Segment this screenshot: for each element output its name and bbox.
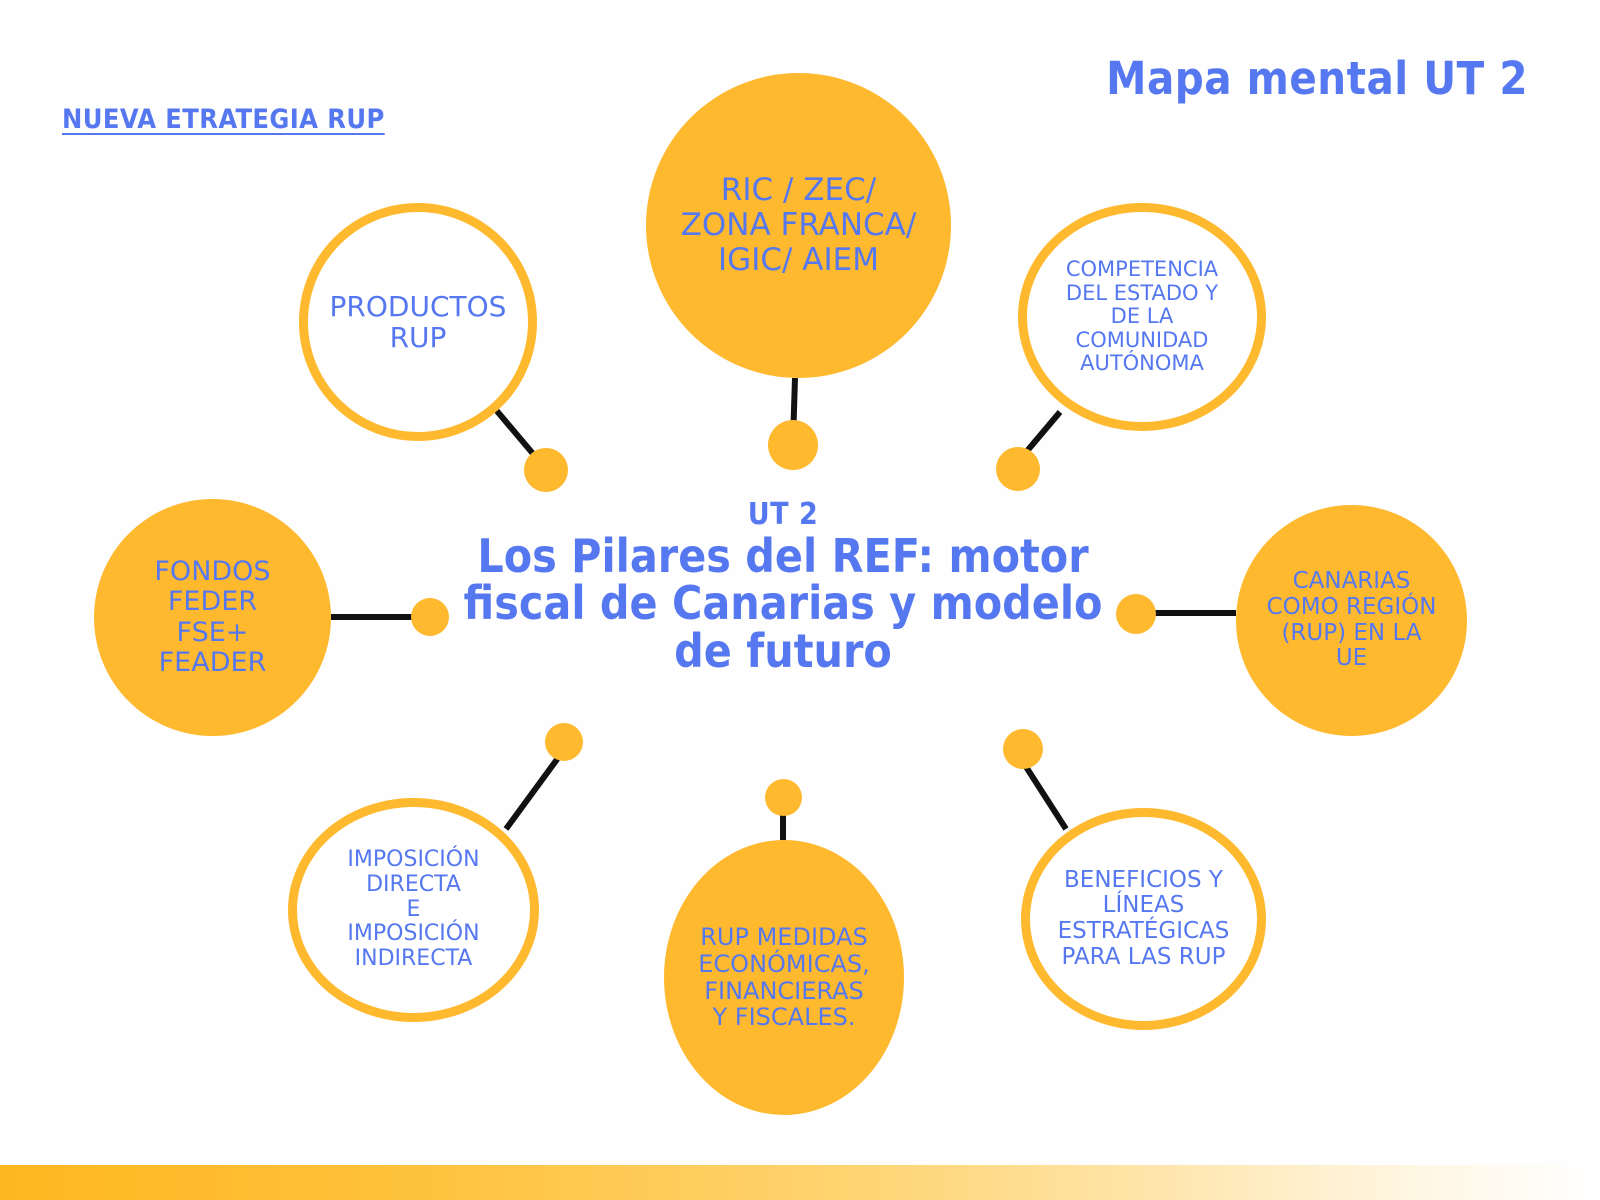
node-label: RIC / ZEC/ ZONA FRANCA/ IGIC/ AIEM [650,173,947,277]
connector-dot-imposicion [545,723,583,761]
connector-dot-rupmedidas [765,779,802,816]
left-heading: NUEVA ETRATEGIA RUP [62,104,385,135]
center-node: UT 2 Los Pilares del REF: motor fiscal d… [443,500,1123,675]
node-ric-zec-zona-franca[interactable]: RIC / ZEC/ ZONA FRANCA/ IGIC/ AIEM [646,73,951,378]
node-label: FONDOS FEDER FSE+ FEADER [98,557,327,678]
node-label: PRODUCTOS RUP [312,291,524,354]
center-unit-label: UT 2 [443,500,1123,531]
connector-dot-competencia [996,447,1040,491]
node-beneficios-lineas-estrategicas[interactable]: BENEFICIOS Y LÍNEAS ESTRATÉGICAS PARA LA… [1021,808,1266,1030]
node-canarias-region-rup-ue[interactable]: CANARIAS COMO REGIÓN (RUP) EN LA UE [1236,505,1467,736]
node-label: COMPETENCIA DEL ESTADO Y DE LA COMUNIDAD… [1031,258,1253,376]
node-imposicion-directa-indirecta[interactable]: IMPOSICIÓN DIRECTA E IMPOSICIÓN INDIRECT… [288,798,539,1022]
node-productos-rup[interactable]: PRODUCTOS RUP [299,203,537,441]
connector-line-imposicion [506,758,558,829]
node-competencia-estado-comunidad[interactable]: COMPETENCIA DEL ESTADO Y DE LA COMUNIDAD… [1018,203,1266,431]
connector-dot-ric [768,420,818,470]
node-fondos-feder-fse-feader[interactable]: FONDOS FEDER FSE+ FEADER [94,499,331,736]
center-title: Los Pilares del REF: motor fiscal de Can… [443,533,1123,675]
node-label: BENEFICIOS Y LÍNEAS ESTRATÉGICAS PARA LA… [1034,868,1253,971]
connector-dot-beneficios [1003,729,1043,769]
connector-line-beneficios [1021,759,1066,829]
node-label: RUP MEDIDAS ECONÓMICAS, FINANCIERAS Y FI… [668,924,900,1032]
node-label: CANARIAS COMO REGIÓN (RUP) EN LA UE [1240,569,1463,672]
node-rup-medidas-economicas[interactable]: RUP MEDIDAS ECONÓMICAS, FINANCIERAS Y FI… [664,840,904,1115]
mindmap-canvas: NUEVA ETRATEGIA RUP Mapa mental UT 2 UT … [0,0,1600,1200]
connector-dot-productos [524,448,568,492]
node-label: IMPOSICIÓN DIRECTA E IMPOSICIÓN INDIRECT… [301,848,526,971]
bottom-gradient-bar [0,1165,1600,1200]
page-title: Mapa mental UT 2 [1106,52,1528,105]
